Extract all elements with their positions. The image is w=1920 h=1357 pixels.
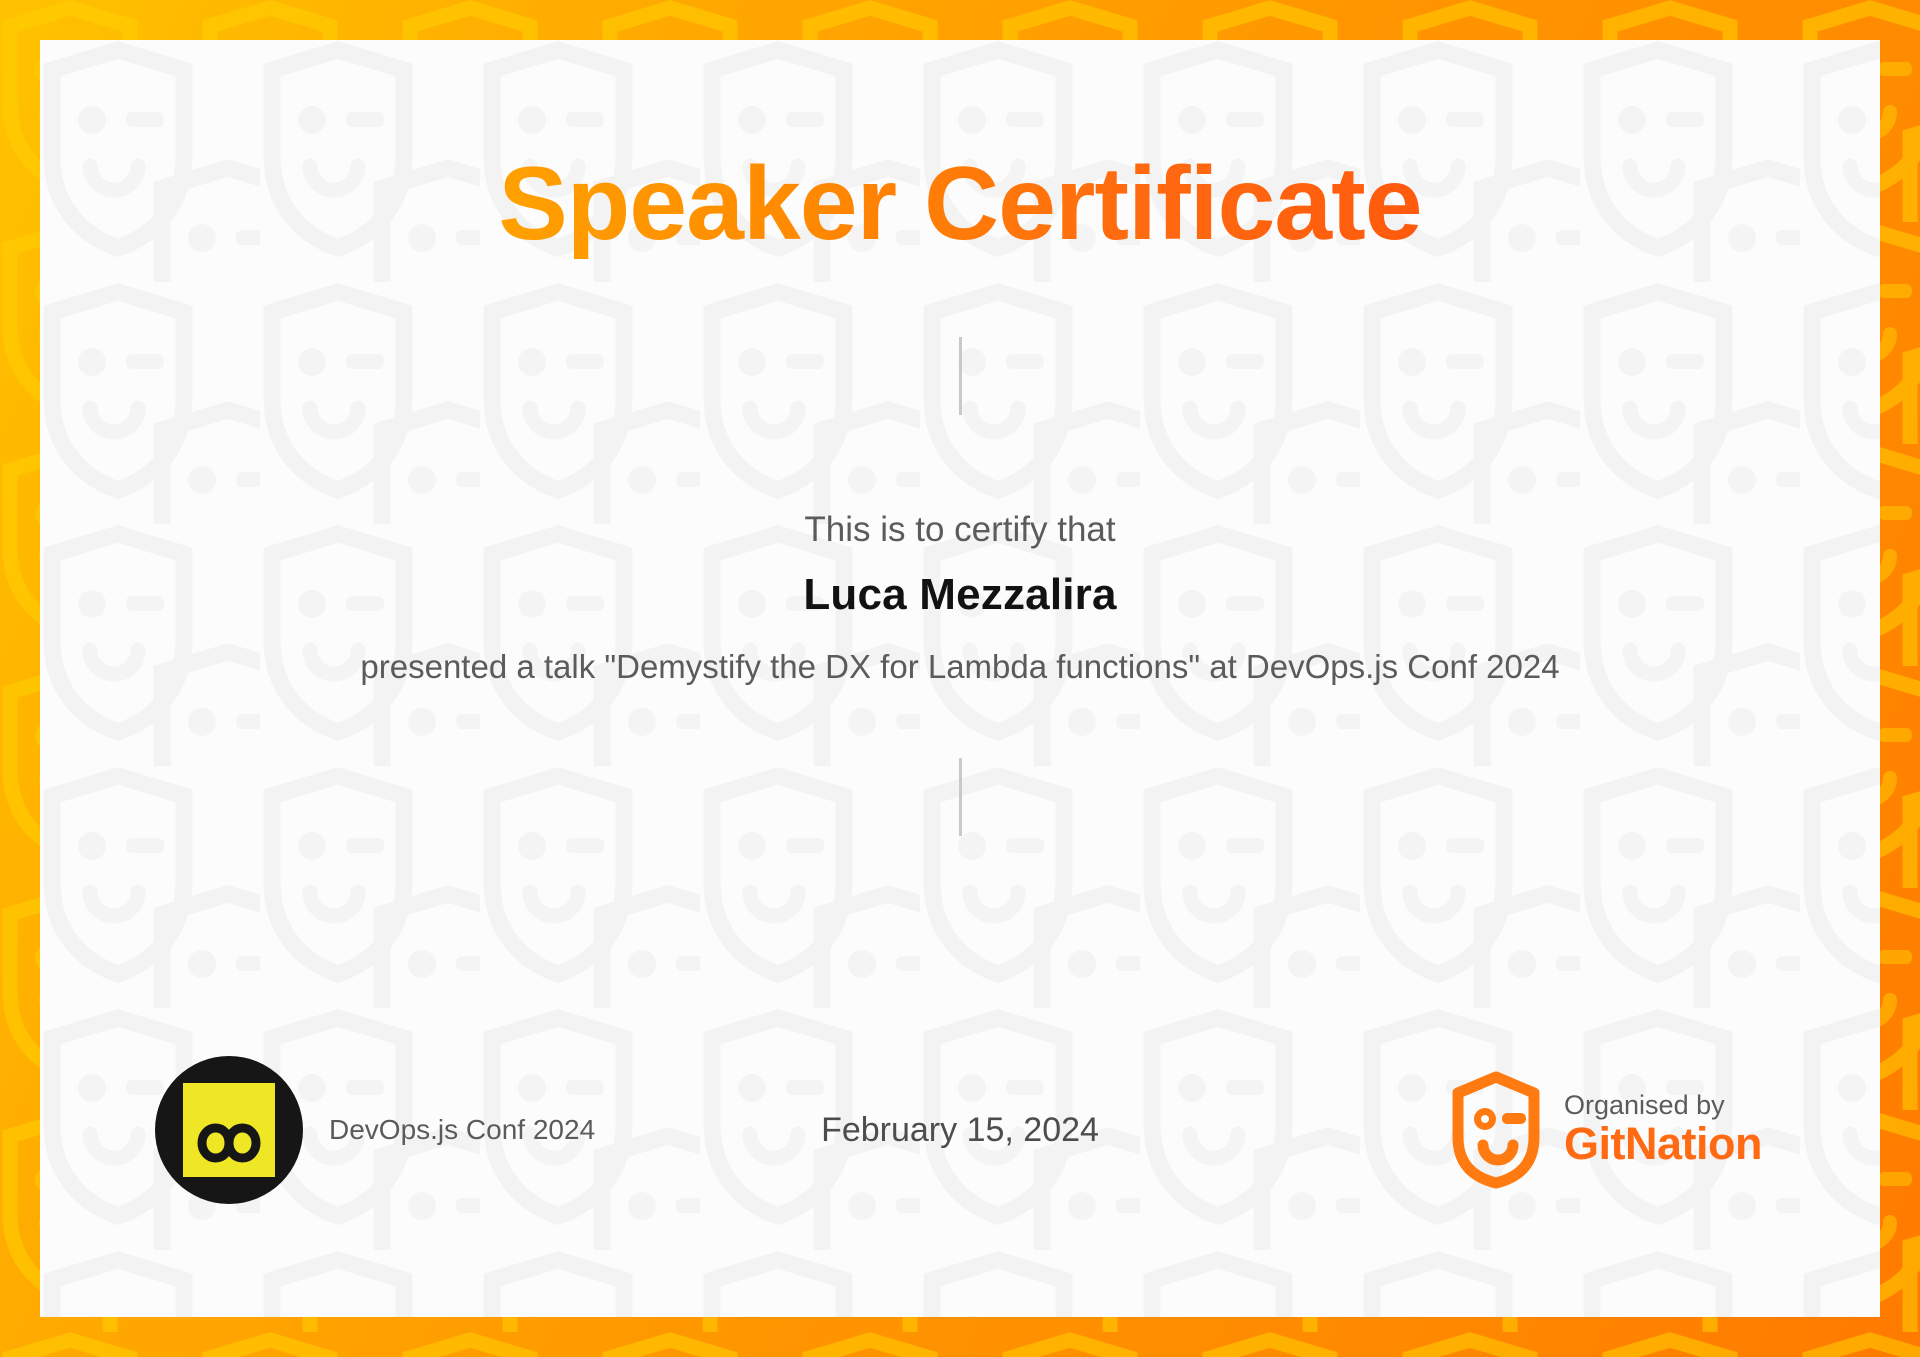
organiser-text: Organised by GitNation	[1564, 1091, 1762, 1169]
divider-top	[959, 337, 962, 415]
certificate-date: February 15, 2024	[821, 1111, 1099, 1150]
gitnation-shield-icon	[1450, 1071, 1542, 1189]
divider-bottom	[959, 758, 962, 836]
certificate-footer: DevOps.js Conf 2024 February 15, 2024 Or…	[40, 1055, 1880, 1205]
certify-line: This is to certify that	[804, 510, 1115, 550]
organised-by-label: Organised by	[1564, 1091, 1762, 1120]
recipient-name: Luca Mezzalira	[803, 570, 1116, 620]
talk-description: presented a talk "Demystify the DX for L…	[360, 648, 1559, 686]
certificate-card: Speaker Certificate This is to certify t…	[40, 40, 1880, 1317]
organiser-block: Organised by GitNation	[1450, 1055, 1762, 1205]
page-title: Speaker Certificate	[498, 150, 1421, 259]
organiser-name: GitNation	[1564, 1120, 1762, 1169]
speaker-certificate: Speaker Certificate This is to certify t…	[0, 0, 1920, 1357]
